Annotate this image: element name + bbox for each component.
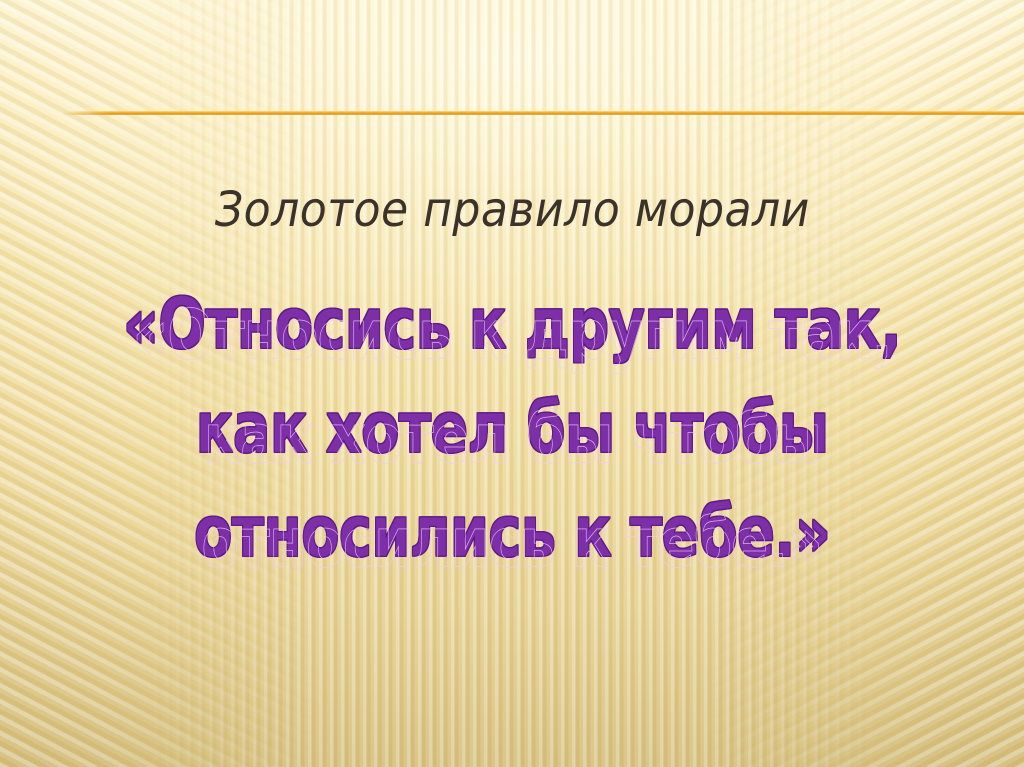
quote-line-2: как хотел бы чтобы [102, 376, 921, 480]
slide-title: Золотое правило морали [215, 186, 810, 234]
quote-line-1-text: «Относись к другим так, [123, 283, 901, 365]
slide-content: Золотое правило морали «Относись к други… [0, 0, 1024, 767]
presentation-slide: Золотое правило морали «Относись к други… [0, 0, 1024, 767]
quote-line-2-text: как хотел бы чтобы [196, 387, 829, 469]
quote-line-1: «Относись к другим так, [102, 272, 921, 376]
quote-line-3: относились к тебе.» [102, 480, 921, 584]
quote-block: «Относись к другим так, как хотел бы что… [0, 272, 1024, 584]
quote-line-3-text: относились к тебе.» [194, 491, 830, 573]
